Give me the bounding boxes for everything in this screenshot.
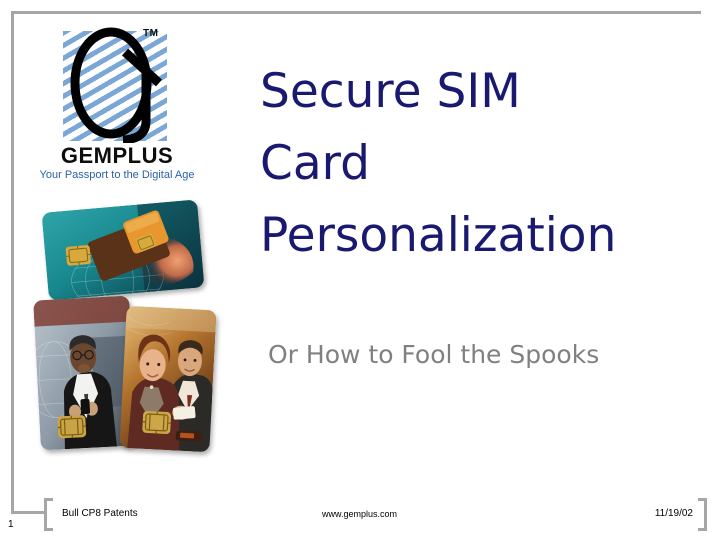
photo-collage <box>33 198 233 460</box>
frame-left-rule <box>11 11 14 514</box>
title-line-1: Secure SIM <box>260 56 690 128</box>
hand-holding-smart-card-photo <box>41 199 204 300</box>
frame-top-rule <box>11 11 701 14</box>
logo-g-glyph-icon <box>63 26 167 143</box>
page-number: 1 <box>8 519 14 530</box>
logo-tagline: Your Passport to the Digital Age <box>33 169 201 181</box>
title-line-2: Card <box>260 128 690 200</box>
title-line-3: Personalization <box>260 200 690 272</box>
presentation-slide: TM GEMPLUS Your Passport to the Digital … <box>0 0 719 539</box>
smart-card-chip-icon <box>142 411 171 434</box>
slide-subtitle: Or How to Fool the Spooks <box>268 340 698 369</box>
mobile-phone-icon <box>80 399 90 414</box>
gemplus-logo: TM GEMPLUS Your Passport to the Digital … <box>33 26 201 181</box>
footer-date-text: 11/19/02 <box>655 508 693 519</box>
logo-wordmark: GEMPLUS <box>33 143 201 169</box>
footer-website-text: www.gemplus.com <box>0 509 719 519</box>
couple-with-card-photo <box>119 306 216 453</box>
smart-card-chip-icon <box>66 245 92 266</box>
trademark-symbol: TM <box>143 28 158 39</box>
gemplus-g-logo-icon <box>63 26 167 143</box>
slide-title: Secure SIM Card Personalization <box>260 56 690 272</box>
smart-card-chip-icon <box>57 415 86 438</box>
